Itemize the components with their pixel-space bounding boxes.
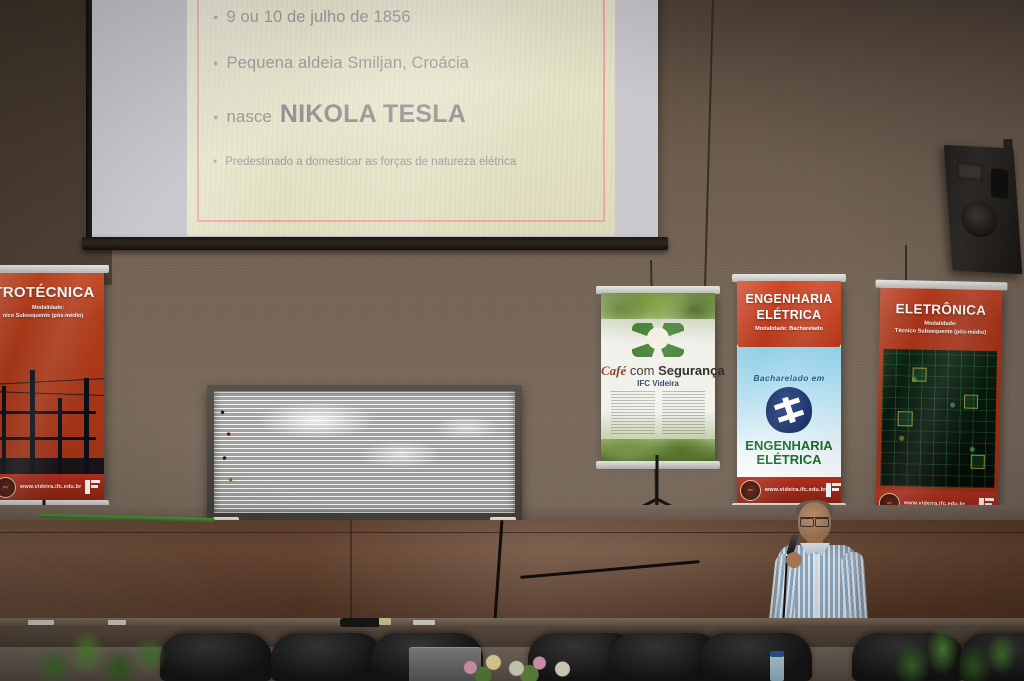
quality-seal-icon: IFC (740, 480, 761, 501)
slide-bullet-4: ● nasce NIKOLA TESLA (213, 101, 597, 130)
ifc-logo-icon (85, 480, 101, 494)
circuit-pad (897, 411, 912, 426)
circuit-pad (964, 395, 978, 409)
projection-screen: ● Império Austro-Húngaro – ● 9 ou 10 de … (92, 0, 658, 270)
banner-eletrotecnica-subtitle-label: Modalidade: (0, 305, 104, 311)
table-paper (379, 618, 391, 625)
presentation-slide: ● Império Austro-Húngaro – ● 9 ou 10 de … (187, 0, 615, 236)
ground-silhouette (0, 458, 104, 474)
water-bottle (770, 653, 784, 681)
cafe-emblem-icon (632, 323, 684, 357)
slide-bullet-5-text: Predestinado a domesticar as forças de n… (225, 152, 516, 172)
water-bottle-cap (770, 651, 784, 657)
banner-eletrotecnica-subtitle-value: nico Subsequente (pós-médio) (0, 313, 104, 319)
slide-content: ● Império Austro-Húngaro – ● 9 ou 10 de … (213, 0, 597, 172)
cafe-brand-com: com (626, 363, 658, 378)
pylon-crossbar (0, 411, 96, 414)
banner-eletrotecnica-title: TROTÉCNICA (0, 284, 102, 301)
led-panel-sparkle (214, 391, 515, 513)
banner-eletronica-image (880, 349, 997, 488)
banner-engenharia-title-line1: ENGENHARIA (737, 292, 841, 306)
banner-cafe-com-seguranca: Café com Segurança IFC Videira (601, 293, 715, 461)
cafe-brand-cafe: Café (601, 363, 626, 378)
flower-arrangement (455, 651, 583, 681)
potted-plant-left (24, 633, 174, 681)
banner-top-rail (0, 265, 109, 273)
slide-bullet-3-text: Pequena aldeia Smiljan, Croácia (227, 50, 470, 76)
banner-engenharia-eletrica: ENGENHARIA ELÉTRICA Modalidade: Bacharel… (737, 281, 841, 503)
quality-seal-icon: IFC (0, 477, 16, 498)
screen-bottom-bar (82, 237, 668, 250)
emblem-glyph-icon (773, 394, 806, 427)
table-paper (28, 620, 54, 625)
banner-eletrotecnica-footer: IFC www.videira.ifc.edu.br (0, 474, 104, 500)
banner-eletronica: ELETRÔNICA Modalidade: Técnico Subsequen… (876, 287, 1003, 519)
led-panel-surface (214, 391, 515, 513)
slide-bullet-4-emphasis: NIKOLA TESLA (280, 101, 466, 127)
cafe-institution: IFC Videira (601, 379, 715, 388)
slide-bullet-3: ● Pequena aldeia Smiljan, Croácia (213, 50, 597, 76)
banner-engenharia-footer: IFC www.videira.ifc.edu.br (737, 477, 841, 503)
pylon-crossbar (0, 437, 96, 440)
pa-speaker (948, 147, 1018, 272)
speaker-horn (957, 161, 983, 181)
cafe-text-column (611, 391, 655, 435)
presenter-hand (786, 552, 802, 568)
led-panel-wiring (215, 397, 249, 506)
table-paper (413, 620, 435, 625)
slide-bullet-5: ● Predestinado a domesticar as forças de… (213, 152, 597, 172)
circuit-pad (971, 455, 985, 469)
auditorium-photo: ● Império Austro-Húngaro – ● 9 ou 10 de … (0, 0, 1024, 681)
ifc-logo-icon (826, 483, 842, 497)
cafe-brand-seguranca: Segurança (658, 363, 724, 378)
banner-eletrotecnica-url: www.videira.ifc.edu.br (20, 484, 81, 490)
slide-bullet-4-prefix: nasce (226, 104, 271, 130)
banner-eletrotecnica: TROTÉCNICA Modalidade: nico Subsequente … (0, 272, 104, 500)
banner-engenharia-name: ENGENHARIA ELÉTRICA (737, 439, 841, 467)
front-table-top (0, 618, 1024, 625)
banner-eletrotecnica-image (0, 342, 104, 474)
cafe-text-column (662, 391, 706, 435)
banner-engenharia-emblem-icon (766, 387, 812, 433)
chair-back (700, 633, 812, 681)
banner-engenharia-name-line2: ELÉTRICA (737, 453, 841, 467)
banner-engenharia-arc-text: Bacharelado em (746, 373, 832, 383)
banner-engenharia-title-line2: ELÉTRICA (737, 308, 841, 322)
banner-engenharia-body: Bacharelado em ENGENHARIA ELÉTRICA (737, 347, 841, 477)
bullet-dot-icon: ● (213, 59, 219, 68)
stage-seam (350, 520, 352, 620)
stage-seam (0, 532, 1024, 533)
banner-engenharia-subtitle: Modalidade: Bacharelado (737, 326, 841, 332)
led-display-panel (207, 385, 522, 520)
table-paper (108, 620, 126, 625)
speaker-tweeter (991, 168, 1008, 199)
chair-back (271, 633, 383, 681)
glasses-icon (800, 517, 829, 525)
banner-engenharia-name-line1: ENGENHARIA (737, 439, 841, 453)
banner-eletronica-subtitle-value: Técnico Subsequente (pós-médio) (879, 328, 1001, 337)
banner-eletronica-title: ELETRÔNICA (880, 301, 1002, 319)
chair-back (160, 633, 272, 681)
foreground-table-and-chairs (0, 618, 1024, 681)
banner-engenharia-url: www.videira.ifc.edu.br (765, 487, 826, 493)
slide-bullet-2: ● 9 ou 10 de julho de 1856 (213, 4, 597, 30)
bullet-dot-icon: ● (213, 158, 217, 165)
circuit-pad (912, 367, 926, 381)
table-device (340, 618, 380, 627)
bullet-dot-icon: ● (213, 113, 218, 122)
banner-engenharia-header: ENGENHARIA ELÉTRICA Modalidade: Bacharel… (737, 281, 841, 355)
bullet-dot-icon: ● (213, 13, 219, 22)
cafe-text-columns (611, 391, 705, 435)
potted-plant-right (884, 629, 1024, 681)
cafe-leaf-top (601, 293, 715, 319)
banner-eletronica-header: ELETRÔNICA Modalidade: Técnico Subsequen… (879, 287, 1002, 352)
slide-bullet-2-text: 9 ou 10 de julho de 1856 (227, 4, 411, 30)
cafe-brand: Café com Segurança (601, 363, 715, 379)
